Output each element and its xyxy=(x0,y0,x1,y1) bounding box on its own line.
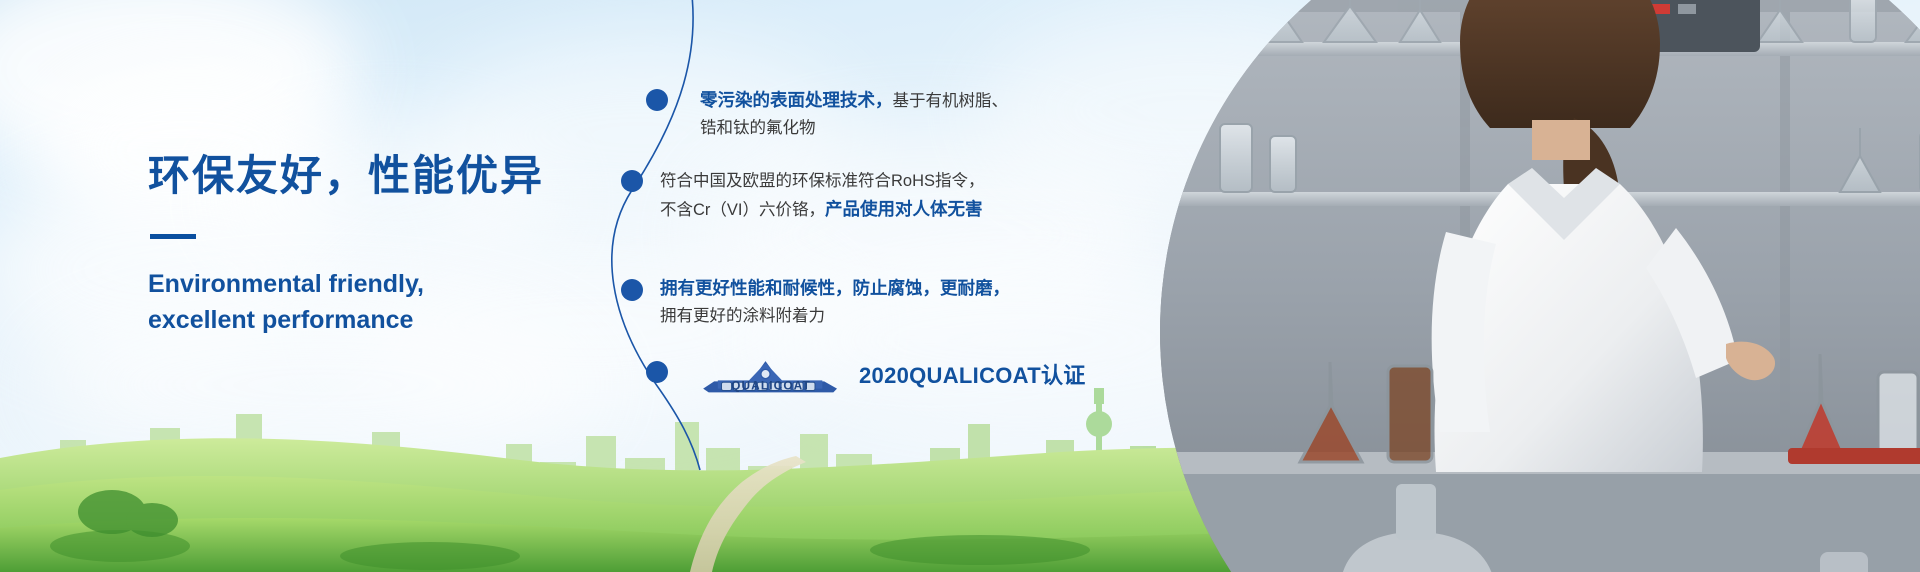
feature-1-line-2: 锆和钛的氟化物 xyxy=(700,115,1120,142)
qualicoat-logo-icon: QUALICOAT xyxy=(697,352,845,396)
feature-item-zero-pollution: 零污染的表面处理技术，基于有机树脂、 锆和钛的氟化物 xyxy=(700,86,1120,141)
subtitle-en-line-1: Environmental friendly, xyxy=(148,267,618,303)
feature-3-line2-normal: 拥有更好的涂料附着力 xyxy=(660,307,825,325)
headline-block: 环保友好，性能优异 Environmental friendly, excell… xyxy=(148,152,618,338)
page-title: 环保友好，性能优异 xyxy=(148,152,618,200)
lab-photo-circle xyxy=(1160,0,1920,572)
bullet-dot-2 xyxy=(621,170,643,192)
qualicoat-wordmark: QUALICOAT xyxy=(731,379,811,393)
subtitle-en: Environmental friendly, excellent perfor… xyxy=(148,267,618,338)
feature-2-line-1: 符合中国及欧盟的环保标准符合RoHS指令， xyxy=(660,168,1100,195)
timeline-arc xyxy=(560,0,800,470)
certification-label: 2020QUALICOAT认证 xyxy=(859,358,1086,390)
feature-1-normal: 基于有机树脂、 xyxy=(893,92,1009,110)
feature-3-line-2: 拥有更好的涂料附着力 xyxy=(660,303,1100,330)
feature-item-durability: 拥有更好性能和耐候性，防止腐蚀，更耐磨， 拥有更好的涂料附着力 xyxy=(660,274,1100,329)
bullet-dot-3 xyxy=(621,279,643,301)
title-divider xyxy=(150,234,196,239)
feature-1-line-1: 零污染的表面处理技术，基于有机树脂、 xyxy=(700,86,1120,115)
feature-3-bold: 拥有更好性能和耐候性，防止腐蚀，更耐磨， xyxy=(660,278,1010,298)
feature-3-line-1: 拥有更好性能和耐候性，防止腐蚀，更耐磨， xyxy=(660,274,1100,303)
feature-2-line2-bold: 产品使用对人体无害 xyxy=(825,199,983,219)
marketing-banner: 环保友好，性能优异 Environmental friendly, excell… xyxy=(0,0,1920,572)
feature-2-line1-normal: 符合中国及欧盟的环保标准符合RoHS指令， xyxy=(660,172,985,190)
photo-area xyxy=(1100,0,1920,572)
feature-1-line2-normal: 锆和钛的氟化物 xyxy=(700,119,816,137)
certification-row: QUALICOAT 2020QUALICOAT认证 xyxy=(697,352,1086,396)
lab-technician-photo xyxy=(1160,0,1920,572)
feature-1-bold: 零污染的表面处理技术， xyxy=(700,90,893,110)
feature-2-line2-normal: 不含Cr（VI）六价铬， xyxy=(660,201,825,219)
feature-2-line-2: 不含Cr（VI）六价铬，产品使用对人体无害 xyxy=(660,195,1100,224)
feature-item-rohs: 符合中国及欧盟的环保标准符合RoHS指令， 不含Cr（VI）六价铬，产品使用对人… xyxy=(660,168,1100,223)
bullet-dot-4 xyxy=(646,361,668,383)
bullet-dot-1 xyxy=(646,89,668,111)
subtitle-en-line-2: excellent performance xyxy=(148,303,618,339)
